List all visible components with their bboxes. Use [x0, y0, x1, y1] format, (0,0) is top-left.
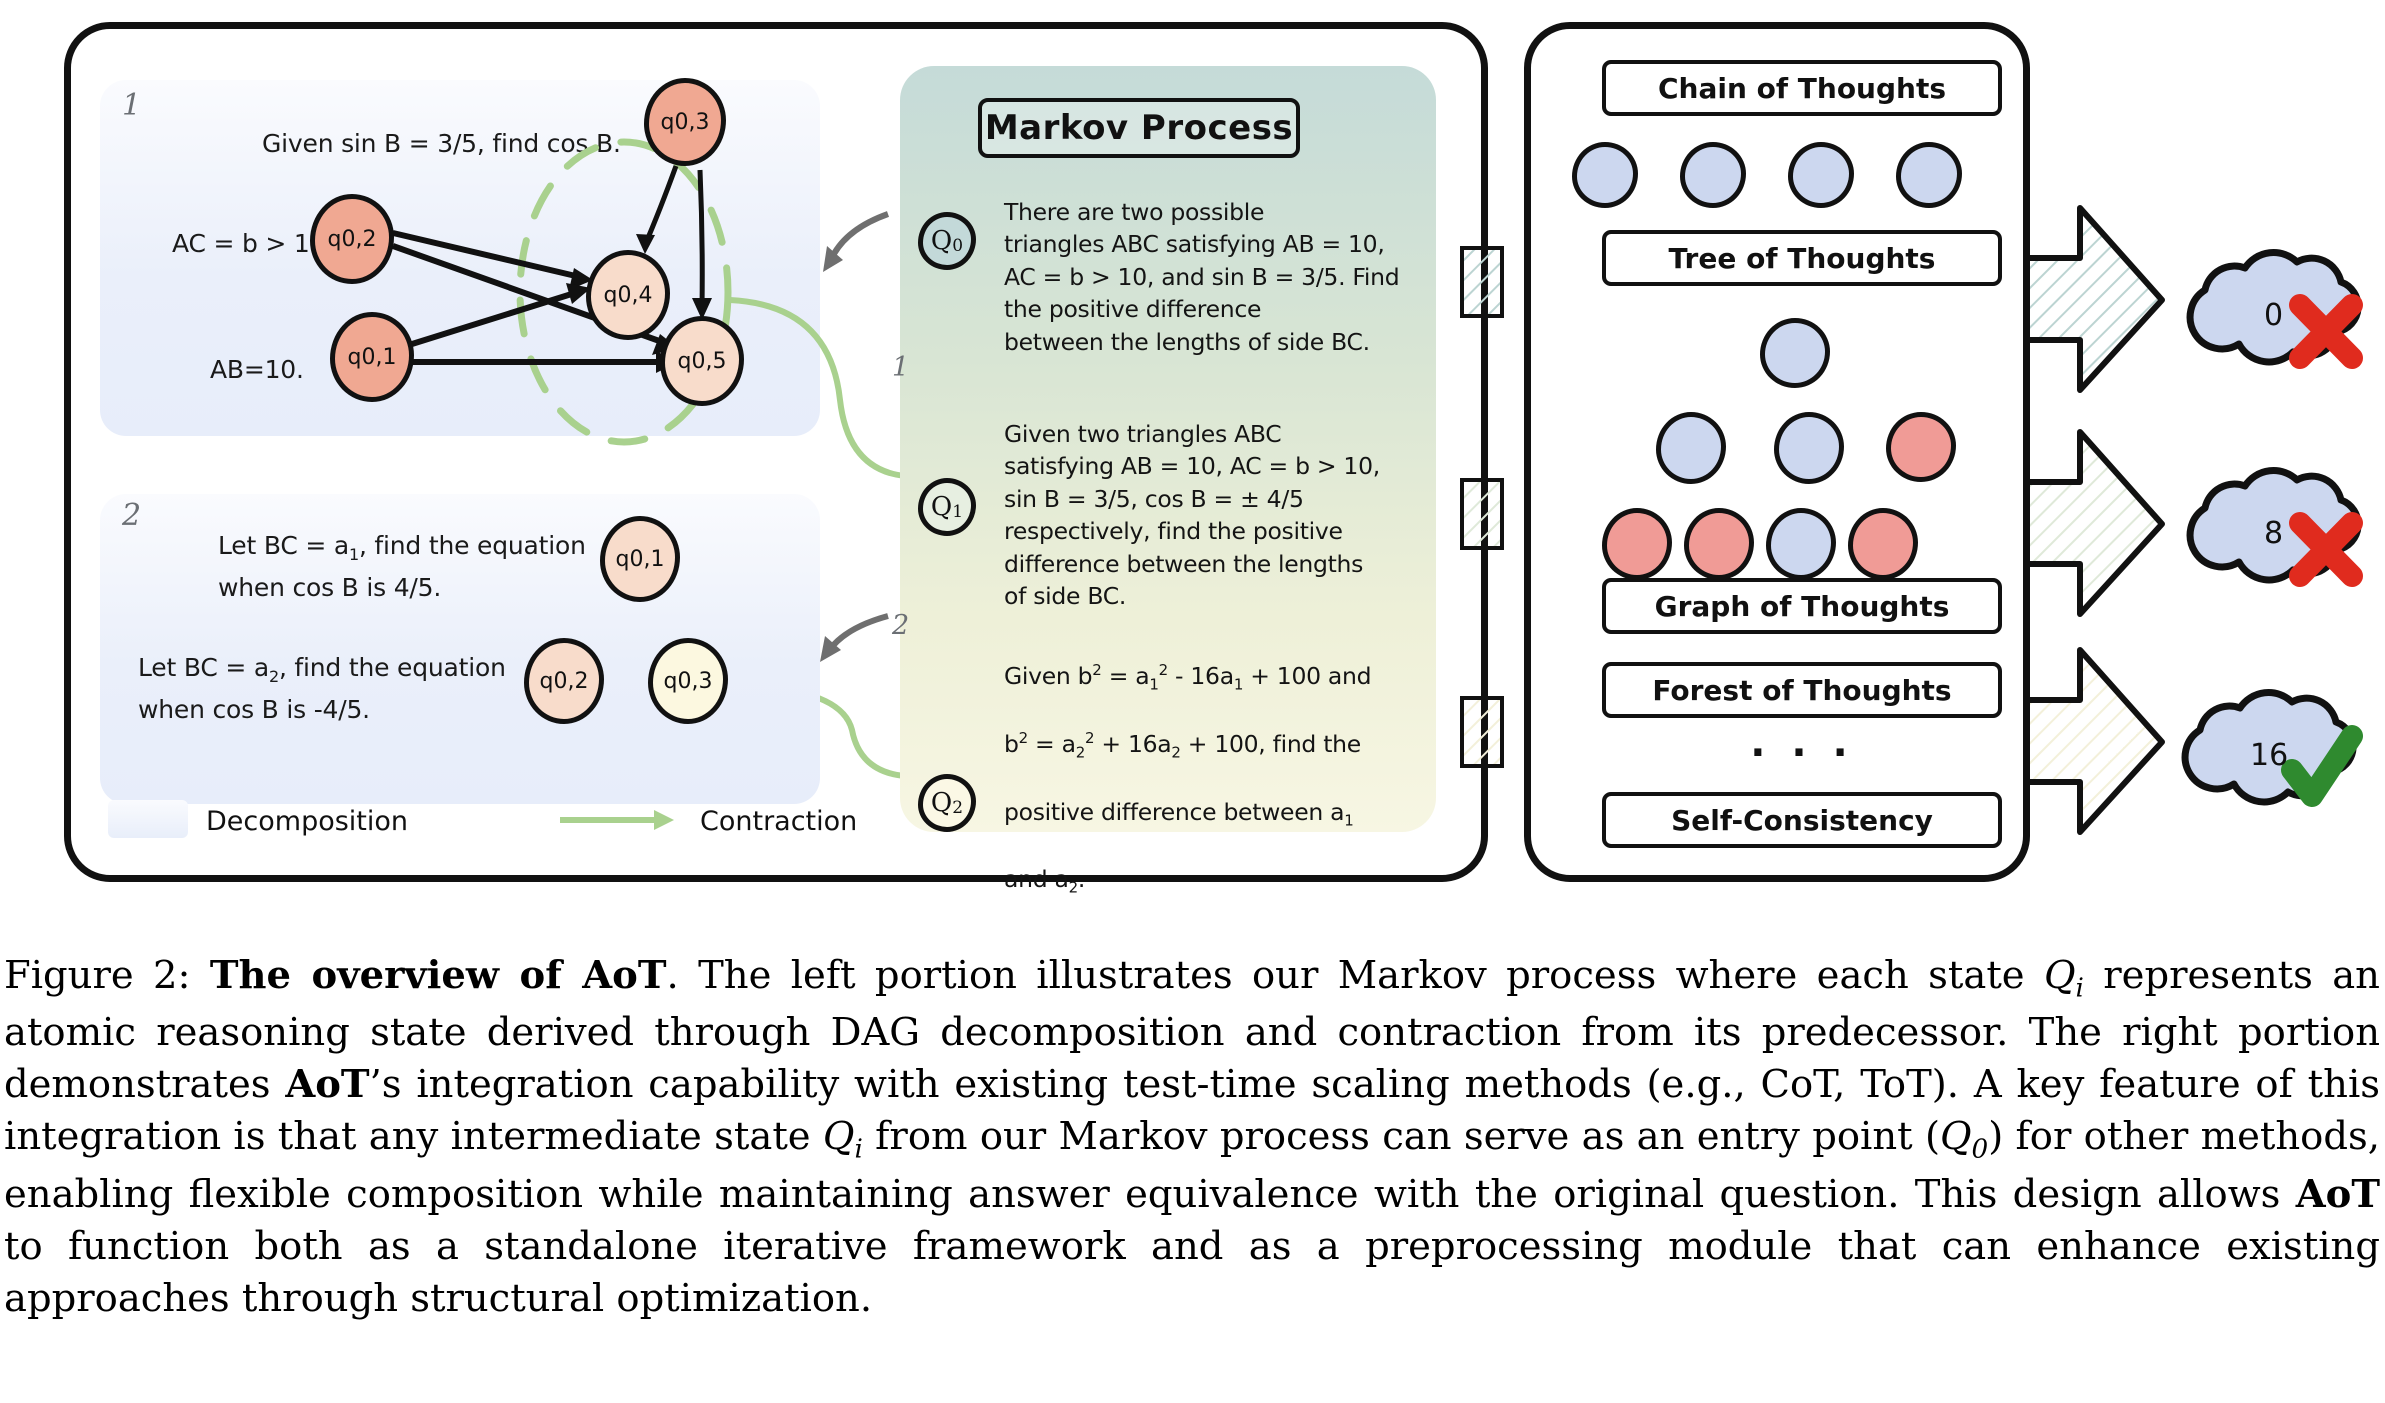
dag-node-q01-p1: q0,1 [330, 312, 414, 402]
caption-qi-1: Qi [2044, 953, 2084, 998]
dag-text-1-2: AB=10. [210, 352, 304, 388]
caption-p1: . The left portion illustrates our Marko… [667, 953, 2044, 998]
dag-text-2-3: when cos B is -4/5. [138, 692, 370, 728]
tot-node-l3-1 [1602, 508, 1672, 580]
caption-q0-1: Q0 [1940, 1114, 1988, 1159]
markov-text-q2: Given b2 = a12 - 16a1 + 100 and b2 = a22… [1004, 660, 1424, 899]
figure-aot-overview: 1 Given sin B = 3/5, find cos B. AC = b … [0, 0, 2385, 930]
dag-node-q01-p2: q0,1 [600, 516, 680, 602]
dag-node-q03-p1: q0,3 [644, 78, 726, 166]
dag-text-2-2: Let BC = a2, find the equation [138, 650, 506, 689]
answer-value-1: 0 [2264, 298, 2283, 333]
legend-label-decomposition: Decomposition [206, 806, 408, 837]
tot-node-l2-2 [1774, 412, 1844, 484]
dag-node-q03-p2: q0,3 [648, 638, 728, 724]
tot-node-l3-3 [1766, 508, 1836, 580]
cot-node-1 [1572, 142, 1638, 208]
caption-qi-2: Qi [823, 1114, 863, 1159]
tot-node-l2-1 [1656, 412, 1726, 484]
markov-text-q1: Given two triangles ABC satisfying AB = … [1004, 418, 1424, 613]
caption-aot-2: AoT [2296, 1172, 2380, 1217]
tot-node-root [1760, 318, 1830, 388]
caption-p4: from our Markov process can serve as an … [863, 1114, 1940, 1159]
tot-node-l2-3 [1886, 412, 1956, 482]
panel-index-2: 2 [122, 498, 141, 533]
markov-text-q0: There are two possible triangles ABC sat… [1004, 196, 1424, 358]
answer-value-2: 8 [2264, 516, 2283, 551]
dag-node-q02-p1: q0,2 [310, 194, 394, 284]
cot-node-3 [1788, 142, 1854, 208]
caption-title: The overview of AoT [210, 953, 667, 998]
legend-label-contraction: Contraction [700, 806, 857, 837]
dag-node-q04-p1: q0,4 [586, 250, 670, 340]
panel-index-1: 1 [122, 88, 141, 123]
dag-node-q05-p1: q0,5 [660, 316, 744, 406]
cot-node-2 [1680, 142, 1746, 208]
check-icon-3 [2292, 736, 2352, 796]
figure-caption: Figure 2: The overview of AoT. The left … [4, 950, 2380, 1325]
cross-icon-2 [2300, 523, 2352, 576]
markov-step-2: 2 [892, 610, 909, 641]
dag-text-2-0: Let BC = a1, find the equation [218, 528, 586, 567]
dag-text-1-1: AC = b > 10. [172, 226, 333, 262]
tot-node-l3-2 [1684, 508, 1754, 580]
method-box-self-consistency[interactable]: Self-Consistency [1602, 792, 2002, 848]
caption-p6: to function both as a standalone iterati… [4, 1224, 2380, 1321]
caption-aot-1: AoT [285, 1062, 369, 1107]
caption-figure-label: Figure 2: [4, 953, 191, 998]
method-box-chain-of-thoughts[interactable]: Chain of Thoughts [1602, 60, 2002, 116]
dag-text-2-1: when cos B is 4/5. [218, 570, 441, 606]
method-box-tree-of-thoughts[interactable]: Tree of Thoughts [1602, 230, 2002, 286]
dag-node-q02-p2: q0,2 [524, 638, 604, 724]
answer-value-3: 16 [2250, 738, 2288, 773]
tot-node-l3-4 [1848, 508, 1918, 580]
cross-icon-1 [2300, 305, 2352, 358]
method-box-forest-of-thoughts[interactable]: Forest of Thoughts [1602, 662, 2002, 718]
cot-node-4 [1896, 142, 1962, 208]
markov-step-1: 1 [892, 352, 909, 383]
legend-swatch-decomposition [108, 800, 188, 838]
method-ellipsis: · · · [1602, 730, 2002, 776]
method-box-graph-of-thoughts[interactable]: Graph of Thoughts [1602, 578, 2002, 634]
dag-text-1-0: Given sin B = 3/5, find cos B. [262, 126, 621, 162]
markov-title: Markov Process [978, 98, 1300, 158]
